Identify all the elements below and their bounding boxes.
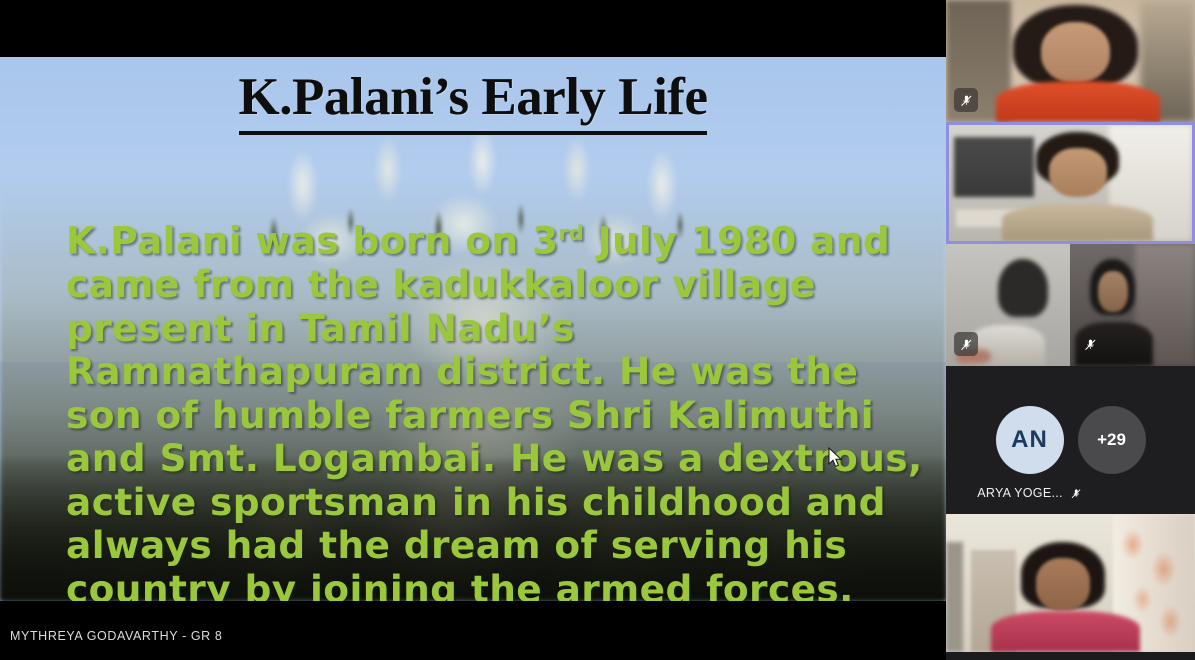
participant-tile-2[interactable] bbox=[946, 122, 1195, 244]
participant-tile-5[interactable] bbox=[946, 514, 1195, 652]
participant-filmstrip[interactable]: AN ARYA YOGE... +29 bbox=[946, 0, 1195, 660]
participant-tile-1[interactable] bbox=[946, 0, 1195, 122]
video-feed bbox=[949, 125, 1192, 241]
video-feed bbox=[946, 0, 1195, 122]
meeting-window: K.Palani’s Early Life K.Palani was born … bbox=[0, 0, 1195, 660]
video-feed bbox=[946, 514, 1195, 652]
shared-screen-stage[interactable]: K.Palani’s Early Life K.Palani was born … bbox=[0, 0, 946, 660]
mic-muted-icon[interactable] bbox=[954, 88, 978, 112]
avatar-caption: ARYA YOGE... bbox=[977, 486, 1082, 500]
mic-muted-icon[interactable] bbox=[1078, 332, 1102, 356]
slide-title-text: K.Palani’s Early Life bbox=[239, 67, 708, 135]
participant-tile-row-3 bbox=[946, 244, 1195, 366]
slide-footer-presenter-name: MYTHREYA GODAVARTHY - GR 8 bbox=[10, 629, 222, 643]
participant-tile-3b[interactable] bbox=[1070, 244, 1195, 366]
avatar-group[interactable]: AN ARYA YOGE... bbox=[996, 406, 1064, 474]
mic-muted-icon[interactable] bbox=[954, 332, 978, 356]
participant-tile-avatar[interactable]: AN ARYA YOGE... +29 bbox=[946, 366, 1195, 514]
slide-body-text: K.Palani was born on 3rd July 1980 and c… bbox=[66, 212, 926, 601]
mic-muted-icon[interactable] bbox=[1071, 487, 1082, 500]
mouse-pointer-icon bbox=[828, 447, 844, 469]
overflow-participants-badge[interactable]: +29 bbox=[1078, 406, 1146, 474]
avatar: AN bbox=[996, 406, 1064, 474]
presentation-slide[interactable]: K.Palani’s Early Life K.Palani was born … bbox=[0, 57, 946, 601]
participant-name: ARYA YOGE... bbox=[977, 486, 1063, 500]
participant-tile-3a[interactable] bbox=[946, 244, 1070, 366]
slide-title: K.Palani’s Early Life bbox=[0, 67, 946, 135]
